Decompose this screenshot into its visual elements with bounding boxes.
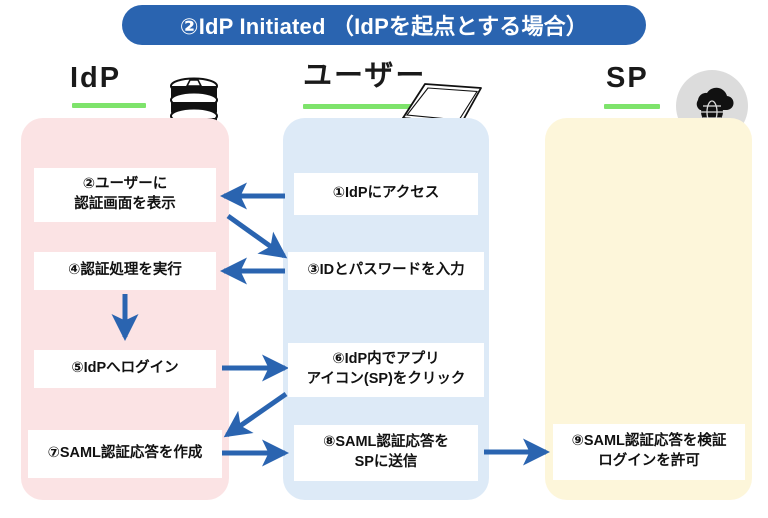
step-box-2[interactable]: ②ユーザーに 認証画面を表示 xyxy=(34,168,216,222)
step-box-7[interactable]: ⑦SAML認証応答を作成 xyxy=(28,430,222,478)
step-box-5[interactable]: ⑤IdPへログイン xyxy=(34,350,216,388)
diagram-canvas: ②IdP Initiated （IdPを起点とする場合） IdP ユーザー SP xyxy=(0,0,768,518)
step-1-line-1: ①IdPにアクセス xyxy=(333,184,440,204)
column-header-sp: SP xyxy=(606,64,649,98)
arrow-step2-step3 xyxy=(228,216,284,256)
step-9-line-1: ⑨SAML認証応答を検証 xyxy=(572,432,727,452)
step-box-6[interactable]: ⑥IdP内でアプリ アイコン(SP)をクリック xyxy=(288,343,484,397)
step-9-line-2: ログインを許可 xyxy=(572,452,727,472)
column-title-sp: SP xyxy=(606,64,649,98)
step-2-line-2: 認証画面を表示 xyxy=(74,195,176,215)
step-4-line-1: ④認証処理を実行 xyxy=(68,261,182,281)
step-box-8[interactable]: ⑧SAML認証応答を SPに送信 xyxy=(294,425,478,481)
step-box-1[interactable]: ①IdPにアクセス xyxy=(294,173,478,215)
step-box-9[interactable]: ⑨SAML認証応答を検証 ログインを許可 xyxy=(553,424,745,480)
underline-idp xyxy=(72,103,146,108)
underline-sp xyxy=(604,104,660,109)
step-3-line-1: ③IDとパスワードを入力 xyxy=(307,261,464,281)
arrow-step6-step7 xyxy=(227,394,286,435)
step-2-line-1: ②ユーザーに xyxy=(74,175,176,195)
column-header-idp: IdP xyxy=(70,64,121,98)
column-title-idp: IdP xyxy=(70,64,121,98)
step-6-line-1: ⑥IdP内でアプリ xyxy=(307,350,466,370)
diagram-title: ②IdP Initiated （IdPを起点とする場合） xyxy=(122,5,646,45)
step-box-4[interactable]: ④認証処理を実行 xyxy=(34,252,216,290)
step-7-line-1: ⑦SAML認証応答を作成 xyxy=(48,444,203,464)
step-6-line-2: アイコン(SP)をクリック xyxy=(307,370,466,390)
step-8-line-2: SPに送信 xyxy=(323,453,449,473)
step-box-3[interactable]: ③IDとパスワードを入力 xyxy=(288,252,484,290)
step-5-line-1: ⑤IdPへログイン xyxy=(71,359,178,379)
step-8-line-1: ⑧SAML認証応答を xyxy=(323,433,449,453)
